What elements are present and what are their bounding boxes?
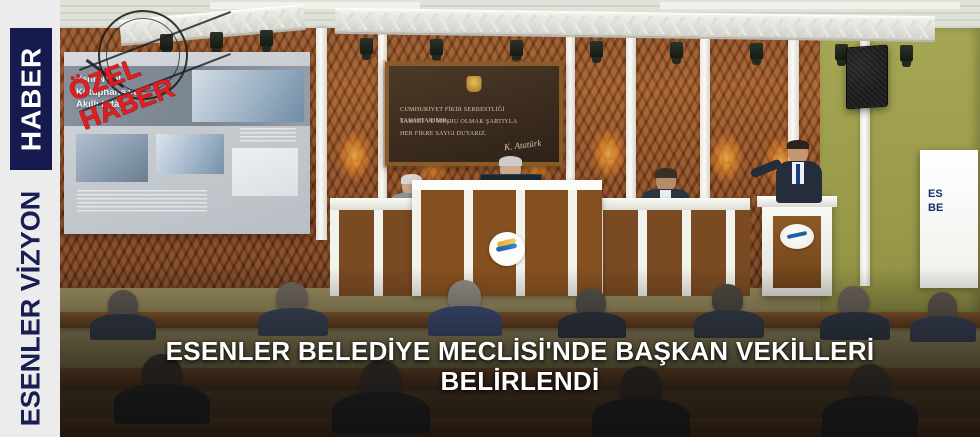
news-thumbnail: Yeni Nesil Kütüphane ve Akıllı Kitap CUM… — [0, 0, 980, 437]
projection-screen: Yeni Nesil Kütüphane ve Akıllı Kitap — [64, 52, 310, 234]
crest-icon — [467, 76, 482, 92]
audience-shoulder — [428, 306, 502, 336]
wall-sconce — [604, 144, 613, 160]
person-tie — [796, 164, 800, 184]
brand-label-wrap[interactable]: ESENLER VİZYON — [8, 188, 54, 428]
audience-shoulder — [558, 312, 626, 338]
rollup-banner: ES BE — [920, 150, 978, 288]
stage-light — [160, 34, 173, 51]
municipality-emblem-icon — [489, 232, 525, 266]
slide-image — [156, 134, 224, 174]
person-hair — [787, 140, 809, 149]
slide-image — [76, 134, 148, 182]
slide-image — [192, 70, 304, 122]
banner-line-1: ES — [928, 188, 943, 202]
audience-shoulder — [694, 310, 764, 338]
wall-pilaster — [316, 28, 327, 240]
stage-light — [430, 39, 443, 56]
stage-light — [260, 30, 273, 47]
truss-lattice — [335, 12, 935, 38]
slide-body-text — [240, 128, 296, 144]
audience-shoulder — [258, 308, 328, 336]
stage-light — [750, 43, 763, 60]
audience-shoulder-foreground — [822, 396, 918, 437]
stage-light — [900, 45, 913, 62]
headline-line-2: BELİRLENDİ — [86, 366, 954, 397]
wall-sconce — [350, 146, 359, 162]
slide-image — [232, 148, 298, 196]
audience-shoulder-foreground — [332, 392, 430, 434]
banner-line-2: BE — [928, 202, 943, 216]
stage-light — [210, 32, 223, 49]
audience-shoulder-foreground — [592, 398, 690, 437]
slide-title: Yeni Nesil Kütüphane ve Akıllı Kitap — [76, 74, 191, 112]
slide-body-text — [77, 190, 207, 212]
ceiling-light-strip — [660, 2, 960, 9]
person-hair — [499, 156, 522, 166]
speaker-at-lectern — [750, 140, 846, 202]
banner-text: ES BE — [928, 188, 943, 216]
stage-light — [590, 41, 603, 58]
news-photo: Yeni Nesil Kütüphane ve Akıllı Kitap CUM… — [60, 0, 980, 437]
stage-light — [360, 38, 373, 55]
stage-light — [510, 40, 523, 57]
headline-line-1: ESENLER BELEDİYE MECLİSİ'NDE BAŞKAN VEKİ… — [86, 336, 954, 367]
haber-badge-label: HABER — [15, 47, 47, 152]
plaque-line-2: SAMİMİ VE MEŞRU OLMAK ŞARTIYLA — [400, 116, 550, 127]
lectern-emblem-icon — [780, 224, 814, 249]
left-sidebar: HABER ESENLER VİZYON — [0, 0, 60, 437]
plaque-line-3: HER FİKRE SAYGI DUYARIZ. — [400, 128, 550, 139]
person-hair — [655, 168, 677, 178]
haber-badge[interactable]: HABER — [10, 28, 52, 170]
brand-label: ESENLER VİZYON — [16, 190, 47, 426]
wall-sconce — [722, 148, 731, 164]
wall-plaque: CUMHURİYET FİKİR SERBESTLİĞİ TARAFTARIDI… — [385, 62, 563, 166]
plaque-signature: K. Atatürk — [503, 138, 541, 152]
headline: ESENLER BELEDİYE MECLİSİ'NDE BAŞKAN VEKİ… — [60, 336, 980, 397]
stage-light — [670, 42, 683, 59]
loudspeaker — [846, 45, 888, 110]
